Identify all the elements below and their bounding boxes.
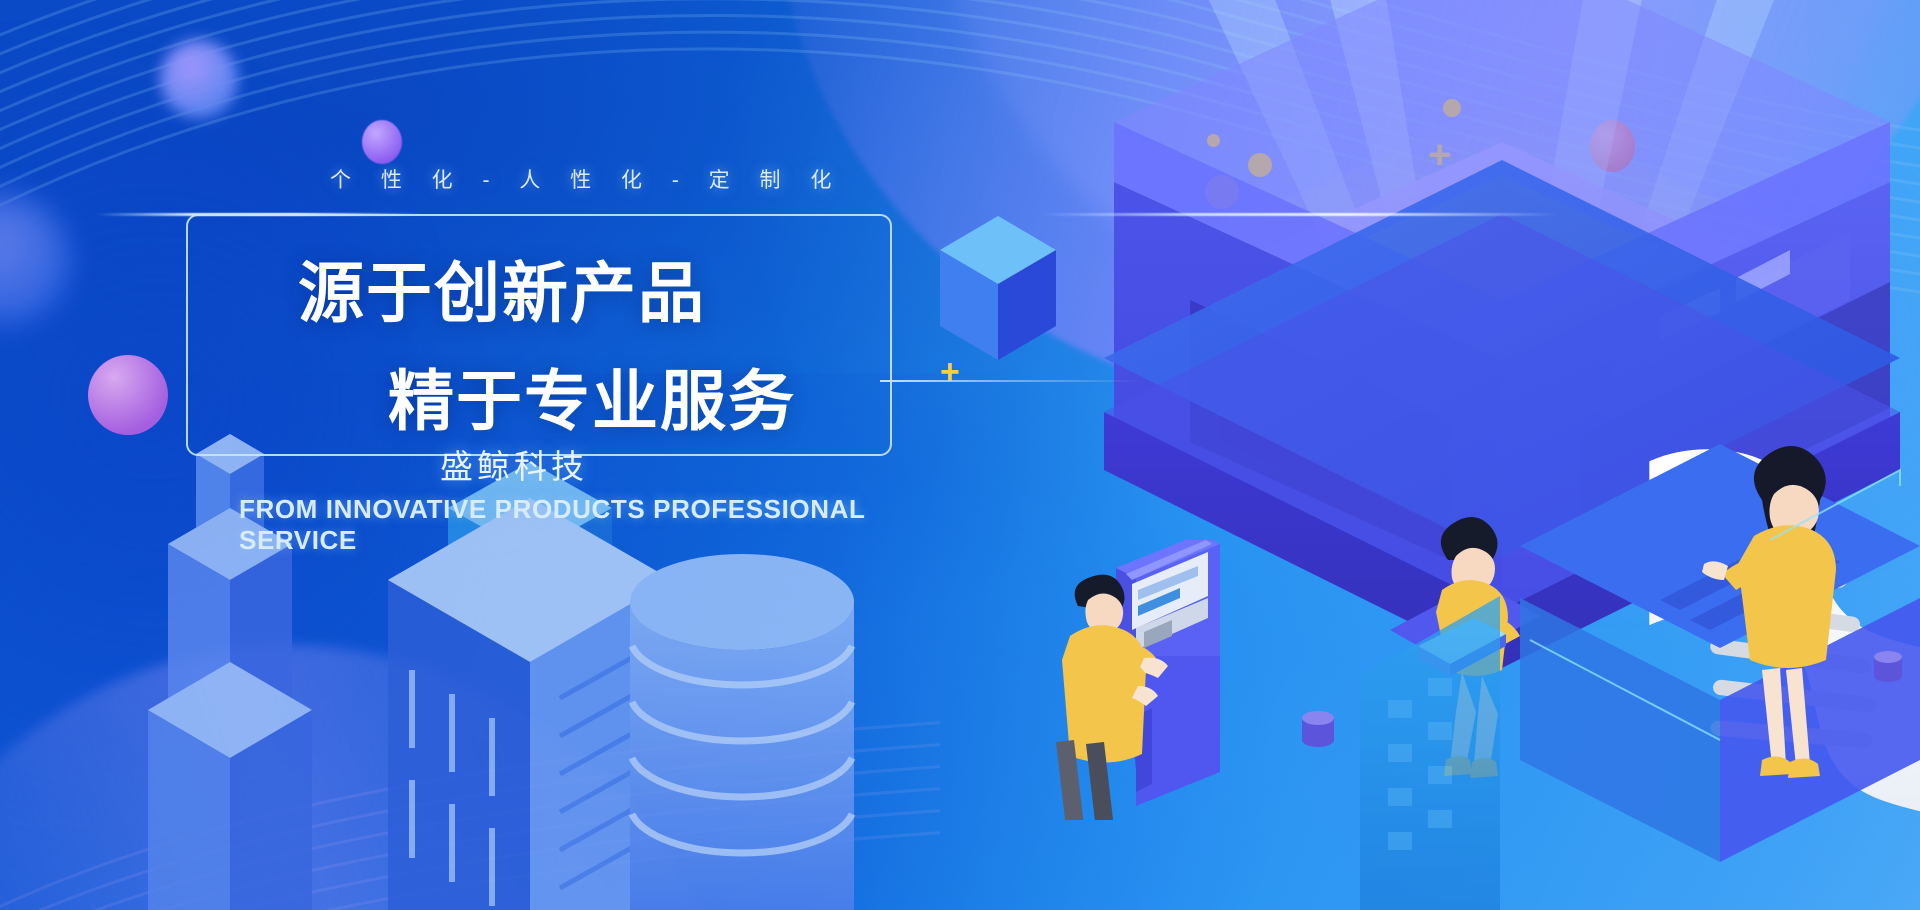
- hero-banner: + +: [0, 0, 1920, 910]
- glow-line-mid: [880, 380, 1140, 382]
- hero-text-block: 个 性 化 - 人 性 化 - 定 制 化 源于创新产品 精于专业服务 盛鲸科技…: [0, 0, 960, 910]
- hero-headline-line1: 源于创新产品: [298, 240, 706, 336]
- hero-english-subtitle: FROM INNOVATIVE PRODUCTS PROFESSIONAL SE…: [239, 494, 960, 556]
- glow-line-right: [1040, 213, 1560, 216]
- man-at-kiosk: [1040, 540, 1340, 820]
- hero-headline-line2: 精于专业服务: [388, 348, 796, 444]
- hero-tagline: 个 性 化 - 人 性 化 - 定 制 化: [330, 164, 843, 194]
- brand-name: 盛鲸科技: [440, 440, 588, 488]
- building-right-edge: [1360, 596, 1500, 910]
